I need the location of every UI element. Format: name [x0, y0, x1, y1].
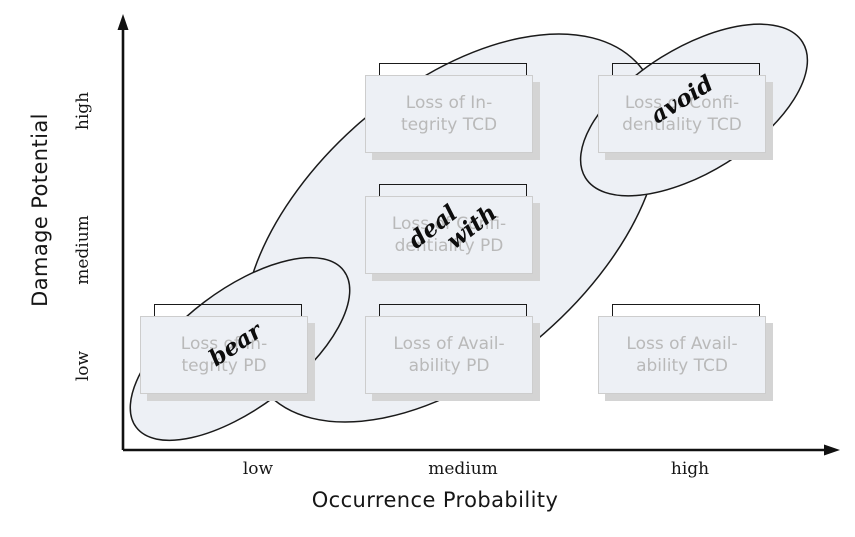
risk-matrix-diagram: Damage Potential high medium low low med…	[0, 0, 855, 537]
x-tick-medium: medium	[403, 459, 523, 479]
box-label-line2: tegrity TCD	[401, 114, 497, 136]
box-panel: Loss of Avail- ability PD	[365, 316, 533, 394]
box-label-line2: ability TCD	[636, 355, 728, 377]
box-label-line2: dentiality TCD	[622, 114, 742, 136]
y-tick-high: high	[73, 66, 93, 156]
y-tick-low: low	[73, 321, 93, 411]
box-label-line1: Loss of Avail-	[393, 333, 504, 355]
x-axis-arrowhead	[824, 445, 840, 456]
y-tick-medium: medium	[73, 205, 93, 295]
x-tick-high: high	[630, 459, 750, 479]
box-label-line1: Loss of In-	[406, 92, 492, 114]
box-panel: Loss of In- tegrity TCD	[365, 75, 533, 153]
box-panel: Loss of Avail- ability TCD	[598, 316, 766, 394]
box-label-line1: Loss of Avail-	[626, 333, 737, 355]
x-tick-low: low	[198, 459, 318, 479]
y-axis-title: Damage Potential	[28, 100, 52, 320]
x-axis-title: Occurrence Probability	[225, 488, 645, 512]
y-axis-arrowhead	[118, 14, 129, 30]
box-label-line2: ability PD	[409, 355, 490, 377]
